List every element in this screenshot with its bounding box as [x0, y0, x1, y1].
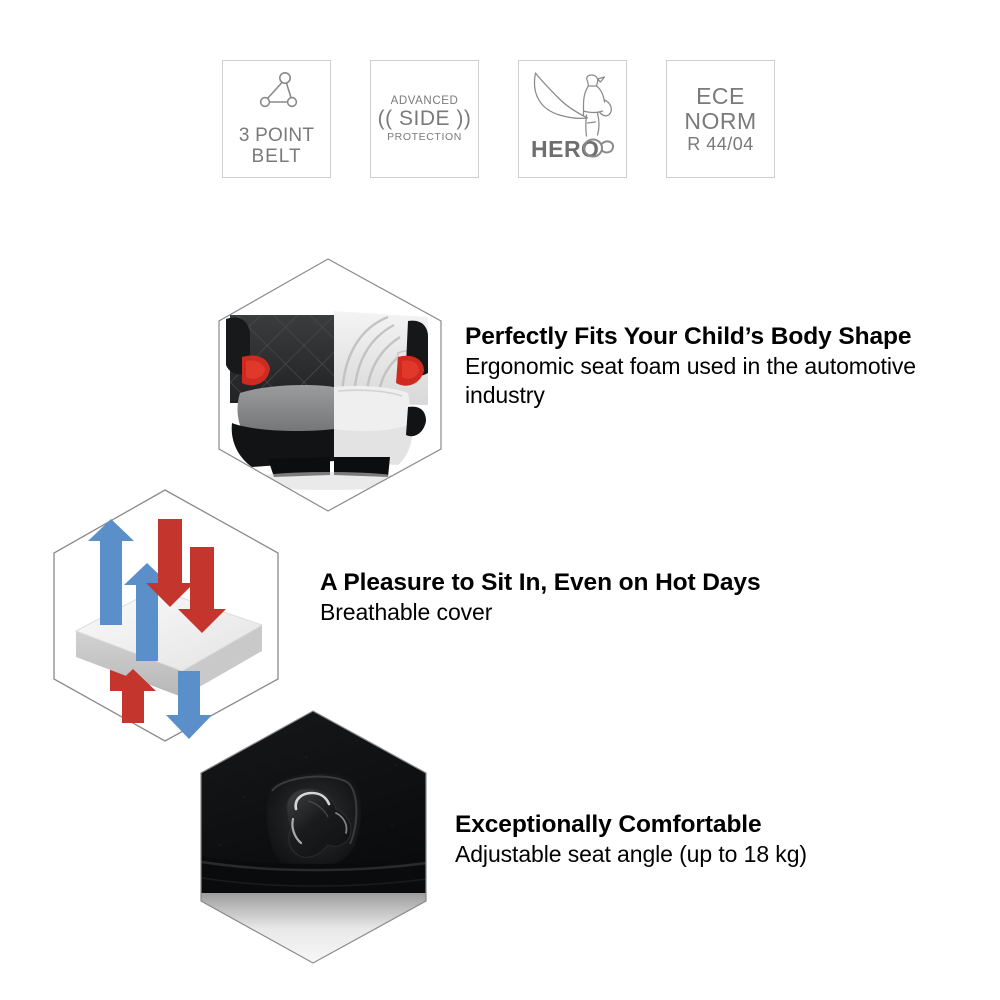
badge-belt-line-1: 3 POINT	[239, 126, 314, 147]
feature-text-fits-body-shape: Perfectly Fits Your Child’s Body Shape E…	[465, 322, 935, 410]
badge-belt-number: 3	[239, 125, 250, 146]
badge-belt-word: POINT	[255, 125, 314, 146]
feature-title: Exceptionally Comfortable	[455, 810, 935, 840]
badge-side-protection: ADVANCED (( SIDE )) PROTECTION	[370, 60, 479, 178]
badge-ece-line-3: R 44/04	[687, 135, 754, 154]
badge-three-point-belt: 3 POINT BELT	[222, 60, 331, 178]
badge-hero: HERO	[518, 60, 627, 178]
feature-title: A Pleasure to Sit In, Even on Hot Days	[320, 568, 920, 598]
badge-side-top-label: ADVANCED	[391, 95, 459, 107]
badge-side-main-label: (( SIDE ))	[378, 108, 472, 131]
feature-subtitle: Breathable cover	[320, 598, 920, 627]
hero-loop-icon	[582, 134, 616, 165]
feature-image-recline-knob	[196, 705, 442, 978]
badge-belt-line-2: BELT	[251, 147, 301, 168]
badge-ece-norm: ECE NORM R 44/04	[666, 60, 775, 178]
feature-image-booster-seat	[212, 253, 452, 524]
feature-text-comfortable: Exceptionally Comfortable Adjustable sea…	[455, 810, 935, 869]
feature-subtitle: Ergonomic seat foam used in the automoti…	[465, 352, 935, 410]
badge-ece-line-2: NORM	[684, 109, 756, 134]
badge-side-bottom-label: PROTECTION	[387, 132, 462, 143]
three-point-belt-icon	[252, 70, 302, 119]
badge-ece-line-1: ECE	[696, 84, 745, 109]
certification-badge-row: 3 POINT BELT ADVANCED (( SIDE )) PROTECT…	[222, 60, 775, 178]
feature-subtitle: Adjustable seat angle (up to 18 kg)	[455, 840, 935, 869]
feature-title: Perfectly Fits Your Child’s Body Shape	[465, 322, 935, 352]
feature-text-breathable: A Pleasure to Sit In, Even on Hot Days B…	[320, 568, 920, 627]
